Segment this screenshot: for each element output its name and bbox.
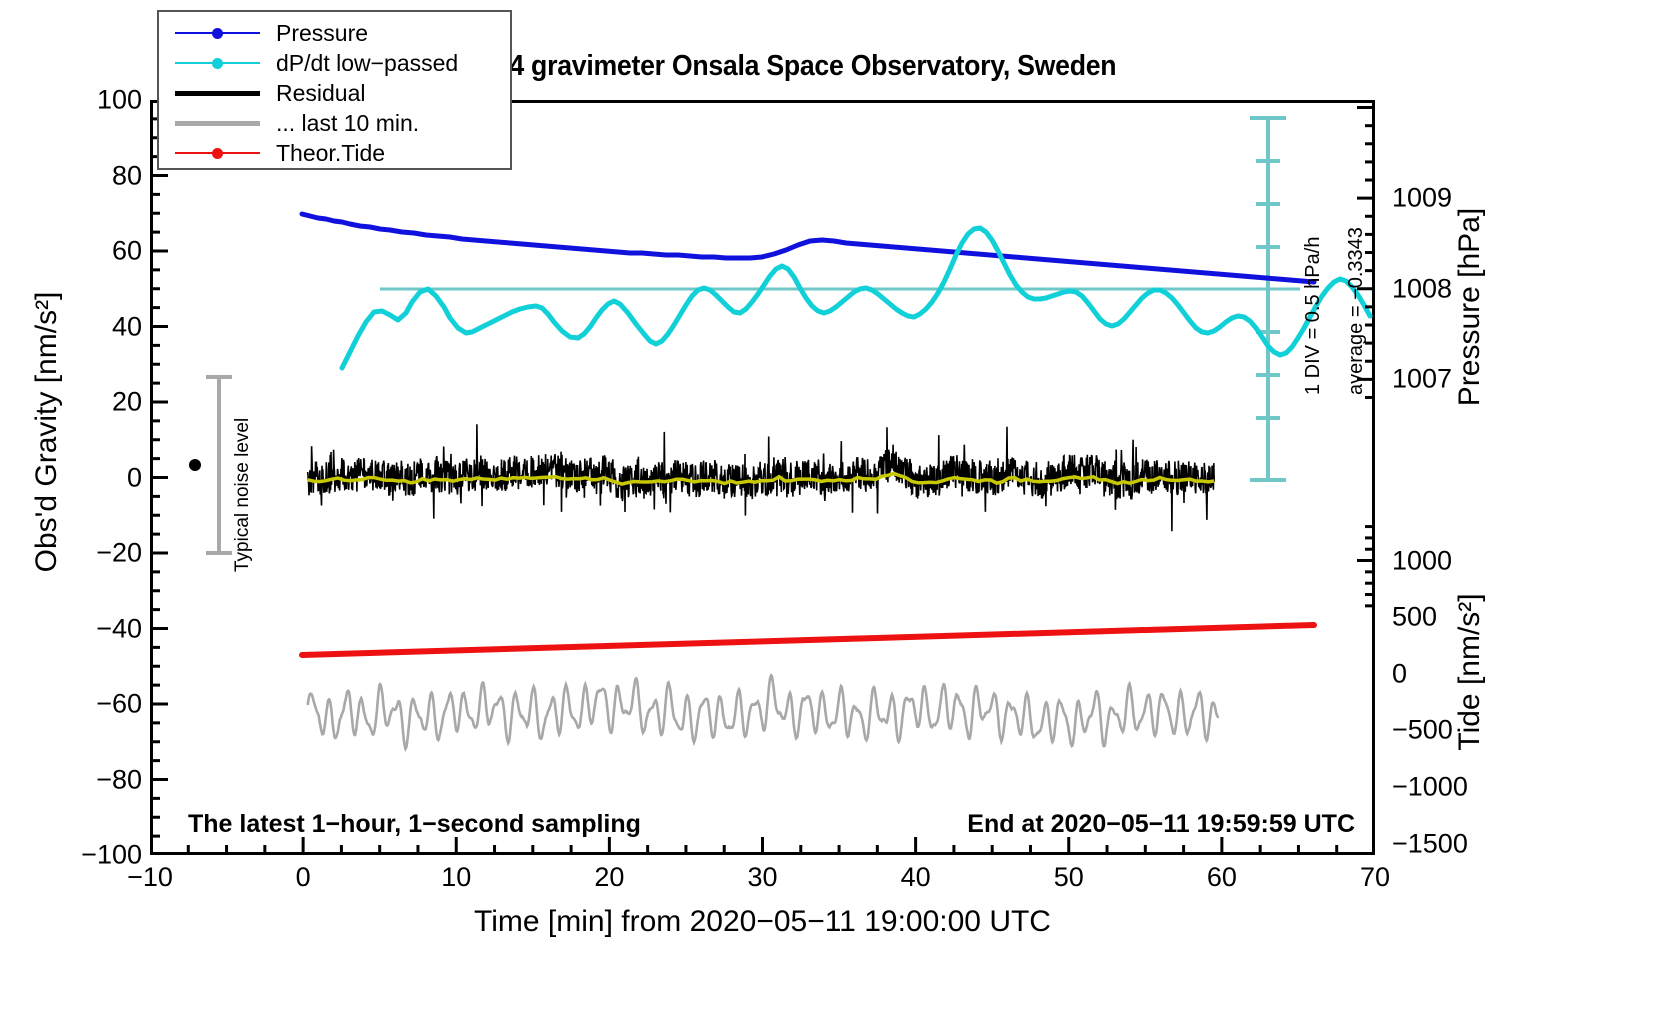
legend-item-last-10-min: ... last 10 min. [159,108,510,138]
legend-label-residual: Residual [260,80,366,107]
x-tick-label: 10 [441,862,471,893]
tide-tick-label: 0 [1392,658,1407,689]
legend-label-last-10-min: ... last 10 min. [260,110,419,137]
tide-tick-label: −1500 [1392,828,1468,859]
tide-tick-label: −1000 [1392,772,1468,803]
x-tick-label: 40 [901,862,931,893]
x-tick-label: 0 [296,862,311,893]
legend-swatch-pressure [175,23,260,43]
y-axis-tick-labels-right: 10091008100710005000−500−1000−1500 [1392,0,1552,1020]
y-tick-label: 20 [112,387,142,418]
tide-tick-label: 500 [1392,602,1437,633]
y-tick-label: 80 [112,160,142,191]
y-tick-label: −60 [96,689,142,720]
pressure-tick-label: 1009 [1392,183,1452,214]
y-tick-label: −80 [96,764,142,795]
data-traces [150,100,1375,855]
typical-noise-bar [206,377,232,553]
legend-label-theor-tide: Theor.Tide [260,140,385,167]
legend-item-theor-tide: Theor.Tide [159,138,510,168]
y-tick-label: 0 [127,462,142,493]
x-tick-label: 30 [747,862,777,893]
annotation-typical-noise-level: Typical noise level [232,418,254,572]
x-tick-label: 70 [1360,862,1390,893]
annotation-scalebar-average: average = −0.3343 [1345,227,1368,395]
tide-tick-label: 1000 [1392,545,1452,576]
series-dpdt [342,228,1370,368]
x-tick-label: 20 [594,862,624,893]
chart-canvas: SCG_054 gravimeter Onsala Space Observat… [0,0,1660,1020]
x-tick-label: 50 [1054,862,1084,893]
legend-swatch-last-10-min [175,113,260,133]
x-tick-label: −10 [127,862,173,893]
pressure-tick-label: 1008 [1392,273,1452,304]
x-axis-label: Time [min] from 2020−05−11 19:00:00 UTC [150,905,1375,939]
legend-item-pressure: Pressure [159,18,510,48]
y-tick-label: −20 [96,538,142,569]
series-last-10-min [308,675,1219,748]
annotation-sampling-note: The latest 1−hour, 1−second sampling [188,810,641,839]
x-tick-label: 60 [1207,862,1237,893]
series-tide [302,625,1314,655]
legend-item-dpdt: dP/dt low−passed [159,48,510,78]
legend-label-pressure: Pressure [260,20,368,47]
pressure-tick-label: 1007 [1392,364,1452,395]
annotation-scalebar-division: 1 DIV = 0.5 hPa/h [1302,237,1325,395]
y-tick-label: 40 [112,311,142,342]
legend: Pressure dP/dt low−passed Residual ... l… [157,10,512,170]
noise-center-dot [189,459,201,471]
y-tick-label: −40 [96,613,142,644]
tide-tick-label: −500 [1392,715,1453,746]
annotation-end-time: End at 2020−05−11 19:59:59 UTC [967,810,1355,839]
legend-item-residual: Residual [159,78,510,108]
series-pressure [302,214,1314,282]
dpdt-scalebar [1250,118,1286,480]
y-tick-label: 60 [112,236,142,267]
legend-label-dpdt: dP/dt low−passed [260,50,458,77]
legend-swatch-theor-tide [175,143,260,163]
legend-swatch-dpdt [175,53,260,73]
y-tick-label: 100 [97,85,142,116]
legend-swatch-residual [175,83,260,103]
